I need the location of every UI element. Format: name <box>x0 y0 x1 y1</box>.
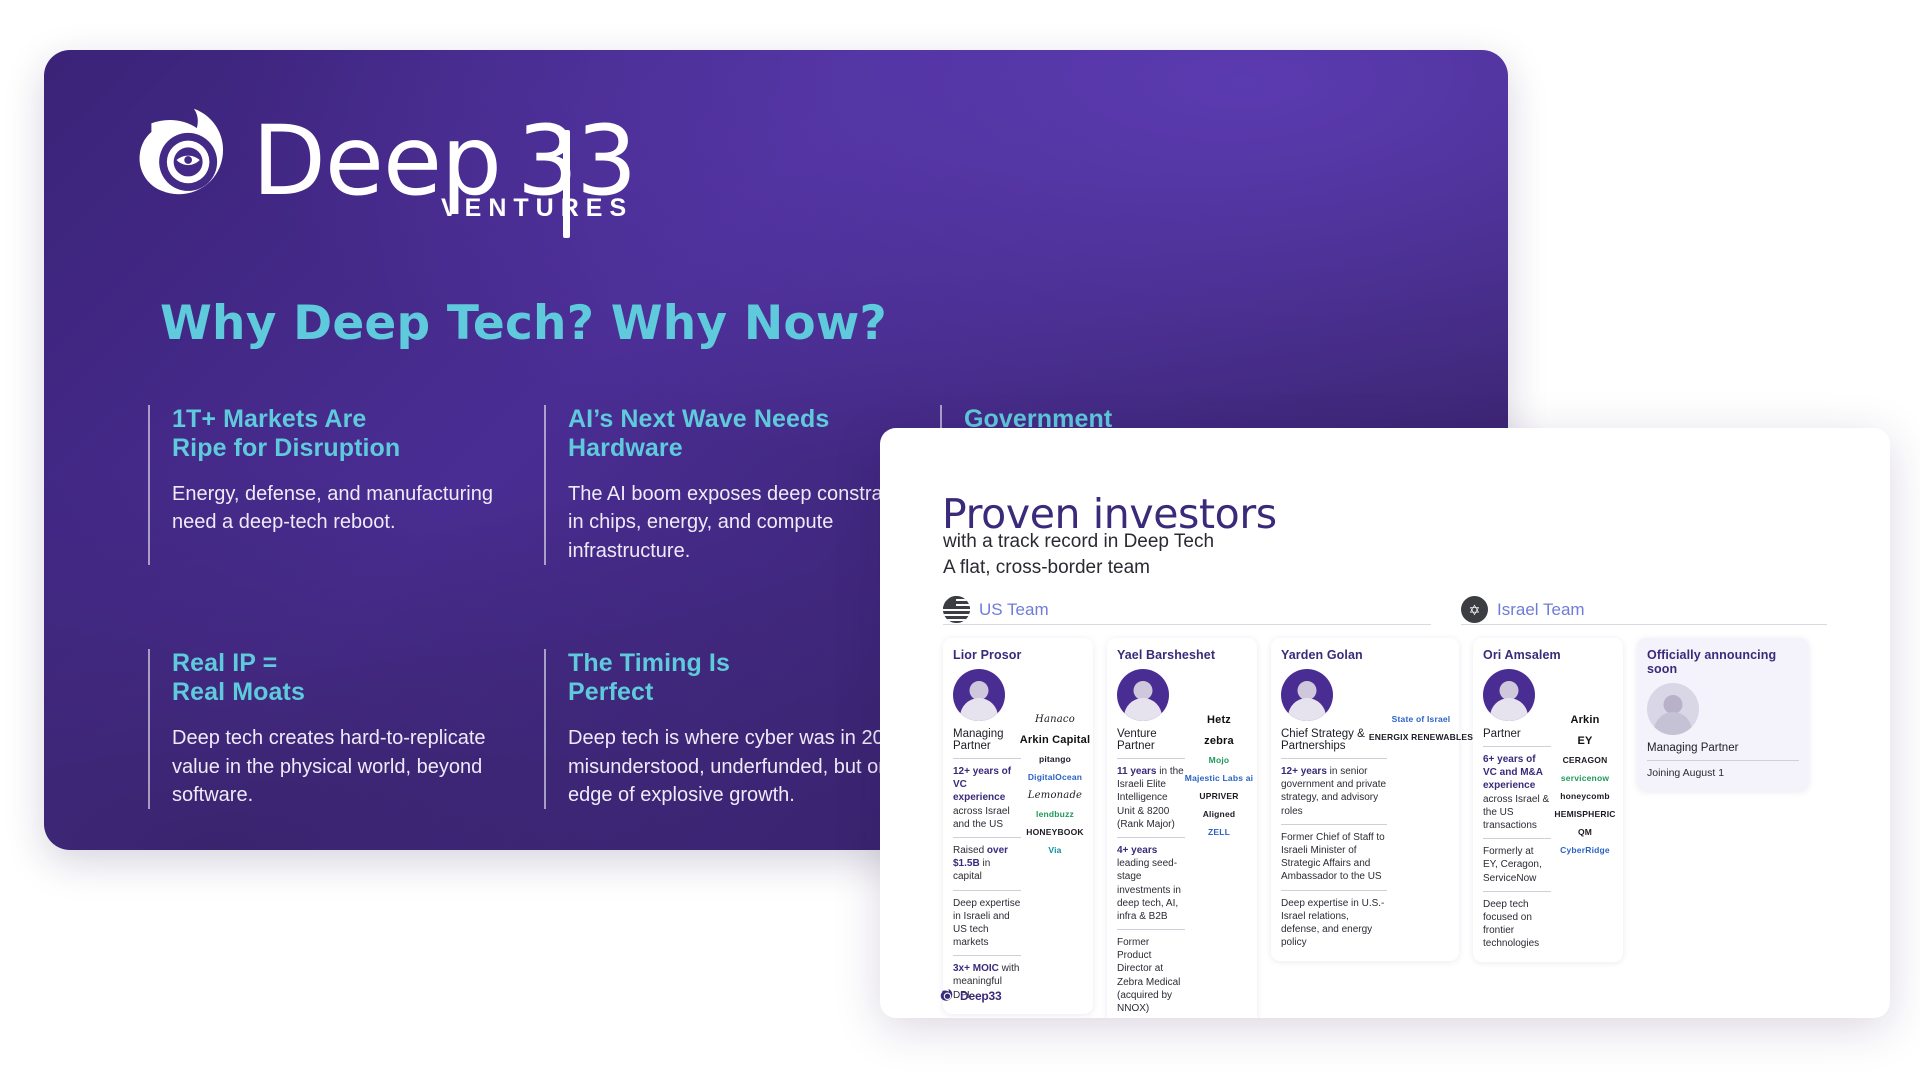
partner-logos: State of Israel ENERGIX RENEWABLES <box>1393 669 1449 949</box>
logo-hetz: Hetz <box>1207 715 1231 727</box>
partner-logos: Arkin EY CERAGON servicenow honeycomb HE… <box>1557 669 1613 950</box>
feature-block-real-ip: Real IP =Real Moats Deep tech creates ha… <box>148 649 528 809</box>
team-header-us: US Team <box>943 596 1049 623</box>
deep33-bird-mark-icon <box>134 102 250 218</box>
footer-brand-text: Deep33 <box>960 989 1002 1003</box>
logo-digitalocean: DigitalOcean <box>1028 773 1082 782</box>
member-name: Yael Barsheshet <box>1117 648 1247 662</box>
brand-subtitle: VENTURES <box>441 194 633 223</box>
member-role: Managing Partner <box>953 728 1021 759</box>
page-subtitle: with a track record in Deep TechA flat, … <box>943 529 1214 580</box>
member-card-ori-amsalem[interactable]: Ori Amsalem Partner 6+ years of VC and M… <box>1473 638 1623 962</box>
member-bullet: Formerly at EY, Ceragon, ServiceNow <box>1483 845 1551 892</box>
logo-mojo: Mojo <box>1209 756 1230 765</box>
deep33-logo: Deep33 VENTURES <box>134 102 635 218</box>
logo-zebra: zebra <box>1204 736 1234 748</box>
member-bullet: Deep expertise in U.S.-Israel relations,… <box>1281 897 1387 950</box>
team-divider-israel <box>1461 624 1827 625</box>
feature-block-ai-hardware: AI’s Next Wave NeedsHardware The AI boom… <box>544 405 924 565</box>
partner-logos: Hetz zebra Mojo Majestic Labs ai UPRIVER… <box>1191 669 1247 1015</box>
member-name: Officially announcing soon <box>1647 648 1799 676</box>
feature-body: The AI boom exposes deep constraints in … <box>568 480 924 565</box>
logo-majestic-labs: Majestic Labs ai <box>1185 774 1253 783</box>
logo-honeycomb: honeycomb <box>1560 792 1610 801</box>
logo-pitango: pitango <box>1039 755 1071 764</box>
member-card-yael-barsheshet[interactable]: Yael Barsheshet Venture Partner 11 years… <box>1107 638 1257 1018</box>
member-bullet: 12+ years of VC experience across Israel… <box>953 765 1021 838</box>
slide-proven-investors: Proven investors with a track record in … <box>880 428 1890 1018</box>
logo-ceragon: CERAGON <box>1563 756 1608 765</box>
logo-lemonade: Lemonade <box>1028 791 1082 802</box>
feature-heading: 1T+ Markets AreRipe for Disruption <box>172 405 528 463</box>
avatar-placeholder <box>1647 683 1699 735</box>
member-bullet: 4+ years leading seed-stage investments … <box>1117 844 1185 930</box>
logo-via: Via <box>1048 846 1061 855</box>
member-name: Ori Amsalem <box>1483 648 1613 662</box>
team-divider-us <box>943 624 1431 625</box>
logo-energix: ENERGIX RENEWABLES <box>1369 733 1473 742</box>
member-bullet: 11 years in the Israeli Elite Intelligen… <box>1117 765 1185 838</box>
feature-body: Deep tech is where cyber was in 2014 – m… <box>568 724 924 809</box>
logo-upriver: UPRIVER <box>1199 792 1238 801</box>
logo-ey: EY <box>1577 736 1592 748</box>
member-bullet: 6+ years of VC and M&A experience across… <box>1483 753 1551 839</box>
logo-zell: ZELL <box>1208 828 1230 837</box>
logo-servicenow: servicenow <box>1561 774 1609 783</box>
feature-body: Energy, defense, and manufacturing need … <box>172 480 528 537</box>
screenshot-stage: Deep33 VENTURES Why Deep Tech? Why Now? … <box>0 0 1920 1080</box>
member-bullet: Former Product Director at Zebra Medical… <box>1117 936 1185 1015</box>
partner-logos: Hanaco Arkin Capital pitango DigitalOcea… <box>1027 669 1083 1002</box>
feature-heading: AI’s Next Wave NeedsHardware <box>568 405 924 463</box>
member-card-announcing-soon[interactable]: Officially announcing soon Managing Part… <box>1637 638 1809 791</box>
slide-title: Why Deep Tech? Why Now? <box>160 296 887 351</box>
team-label-us: US Team <box>979 600 1049 620</box>
joining-note: Joining August 1 <box>1647 767 1799 779</box>
member-bullet: 12+ years in senior government and priva… <box>1281 765 1387 825</box>
member-bullet: Deep expertise in Israeli and US tech ma… <box>953 897 1021 957</box>
member-bullet: Former Chief of Staff to Israeli Ministe… <box>1281 831 1387 891</box>
avatar <box>953 669 1005 721</box>
deep33-bird-mark-icon <box>940 988 956 1004</box>
logo-qm: QM <box>1578 828 1592 837</box>
member-columns: Lior Prosor Managing Partner 12+ years o… <box>943 638 1809 1018</box>
member-card-lior-prosor[interactable]: Lior Prosor Managing Partner 12+ years o… <box>943 638 1093 1014</box>
logo-hanaco: Hanaco <box>1035 715 1075 726</box>
feature-heading: The Timing IsPerfect <box>568 649 924 707</box>
feature-body: Deep tech creates hard-to-replicate valu… <box>172 724 528 809</box>
member-role: Venture Partner <box>1117 728 1185 759</box>
avatar <box>1117 669 1169 721</box>
logo-honeybook: HONEYBOOK <box>1026 828 1084 837</box>
feature-block-timing: The Timing IsPerfect Deep tech is where … <box>544 649 924 809</box>
logo-lendbuzz: lendbuzz <box>1036 810 1074 819</box>
member-card-yarden-golan[interactable]: Yarden Golan Chief Strategy & Partnershi… <box>1271 638 1459 961</box>
member-bullet: Raised over $1.5B in capital <box>953 844 1021 891</box>
team-header-israel: ✡ Israel Team <box>1461 596 1585 623</box>
avatar <box>1281 669 1333 721</box>
member-role: Managing Partner <box>1647 742 1799 761</box>
avatar <box>1483 669 1535 721</box>
logo-arkin: Arkin Capital <box>1020 735 1090 747</box>
team-label-israel: Israel Team <box>1497 600 1585 620</box>
logo-cyberridge: CyberRidge <box>1560 846 1610 855</box>
logo-arkin: Arkin <box>1570 715 1599 727</box>
member-role: Partner <box>1483 728 1551 747</box>
israel-flag-icon: ✡ <box>1461 596 1488 623</box>
us-flag-icon <box>943 596 970 623</box>
feature-heading: Real IP =Real Moats <box>172 649 528 707</box>
logo-hemispheric: HEMISPHERIC <box>1554 810 1615 819</box>
footer-logo: Deep33 <box>940 988 1002 1004</box>
logo-aligned: Aligned <box>1203 810 1236 819</box>
logo-state-of-israel: State of Israel <box>1392 715 1451 724</box>
member-bullet: Deep tech focused on frontier technologi… <box>1483 898 1551 951</box>
member-name: Yarden Golan <box>1281 648 1449 662</box>
member-name: Lior Prosor <box>953 648 1083 662</box>
feature-block-markets: 1T+ Markets AreRipe for Disruption Energ… <box>148 405 528 565</box>
